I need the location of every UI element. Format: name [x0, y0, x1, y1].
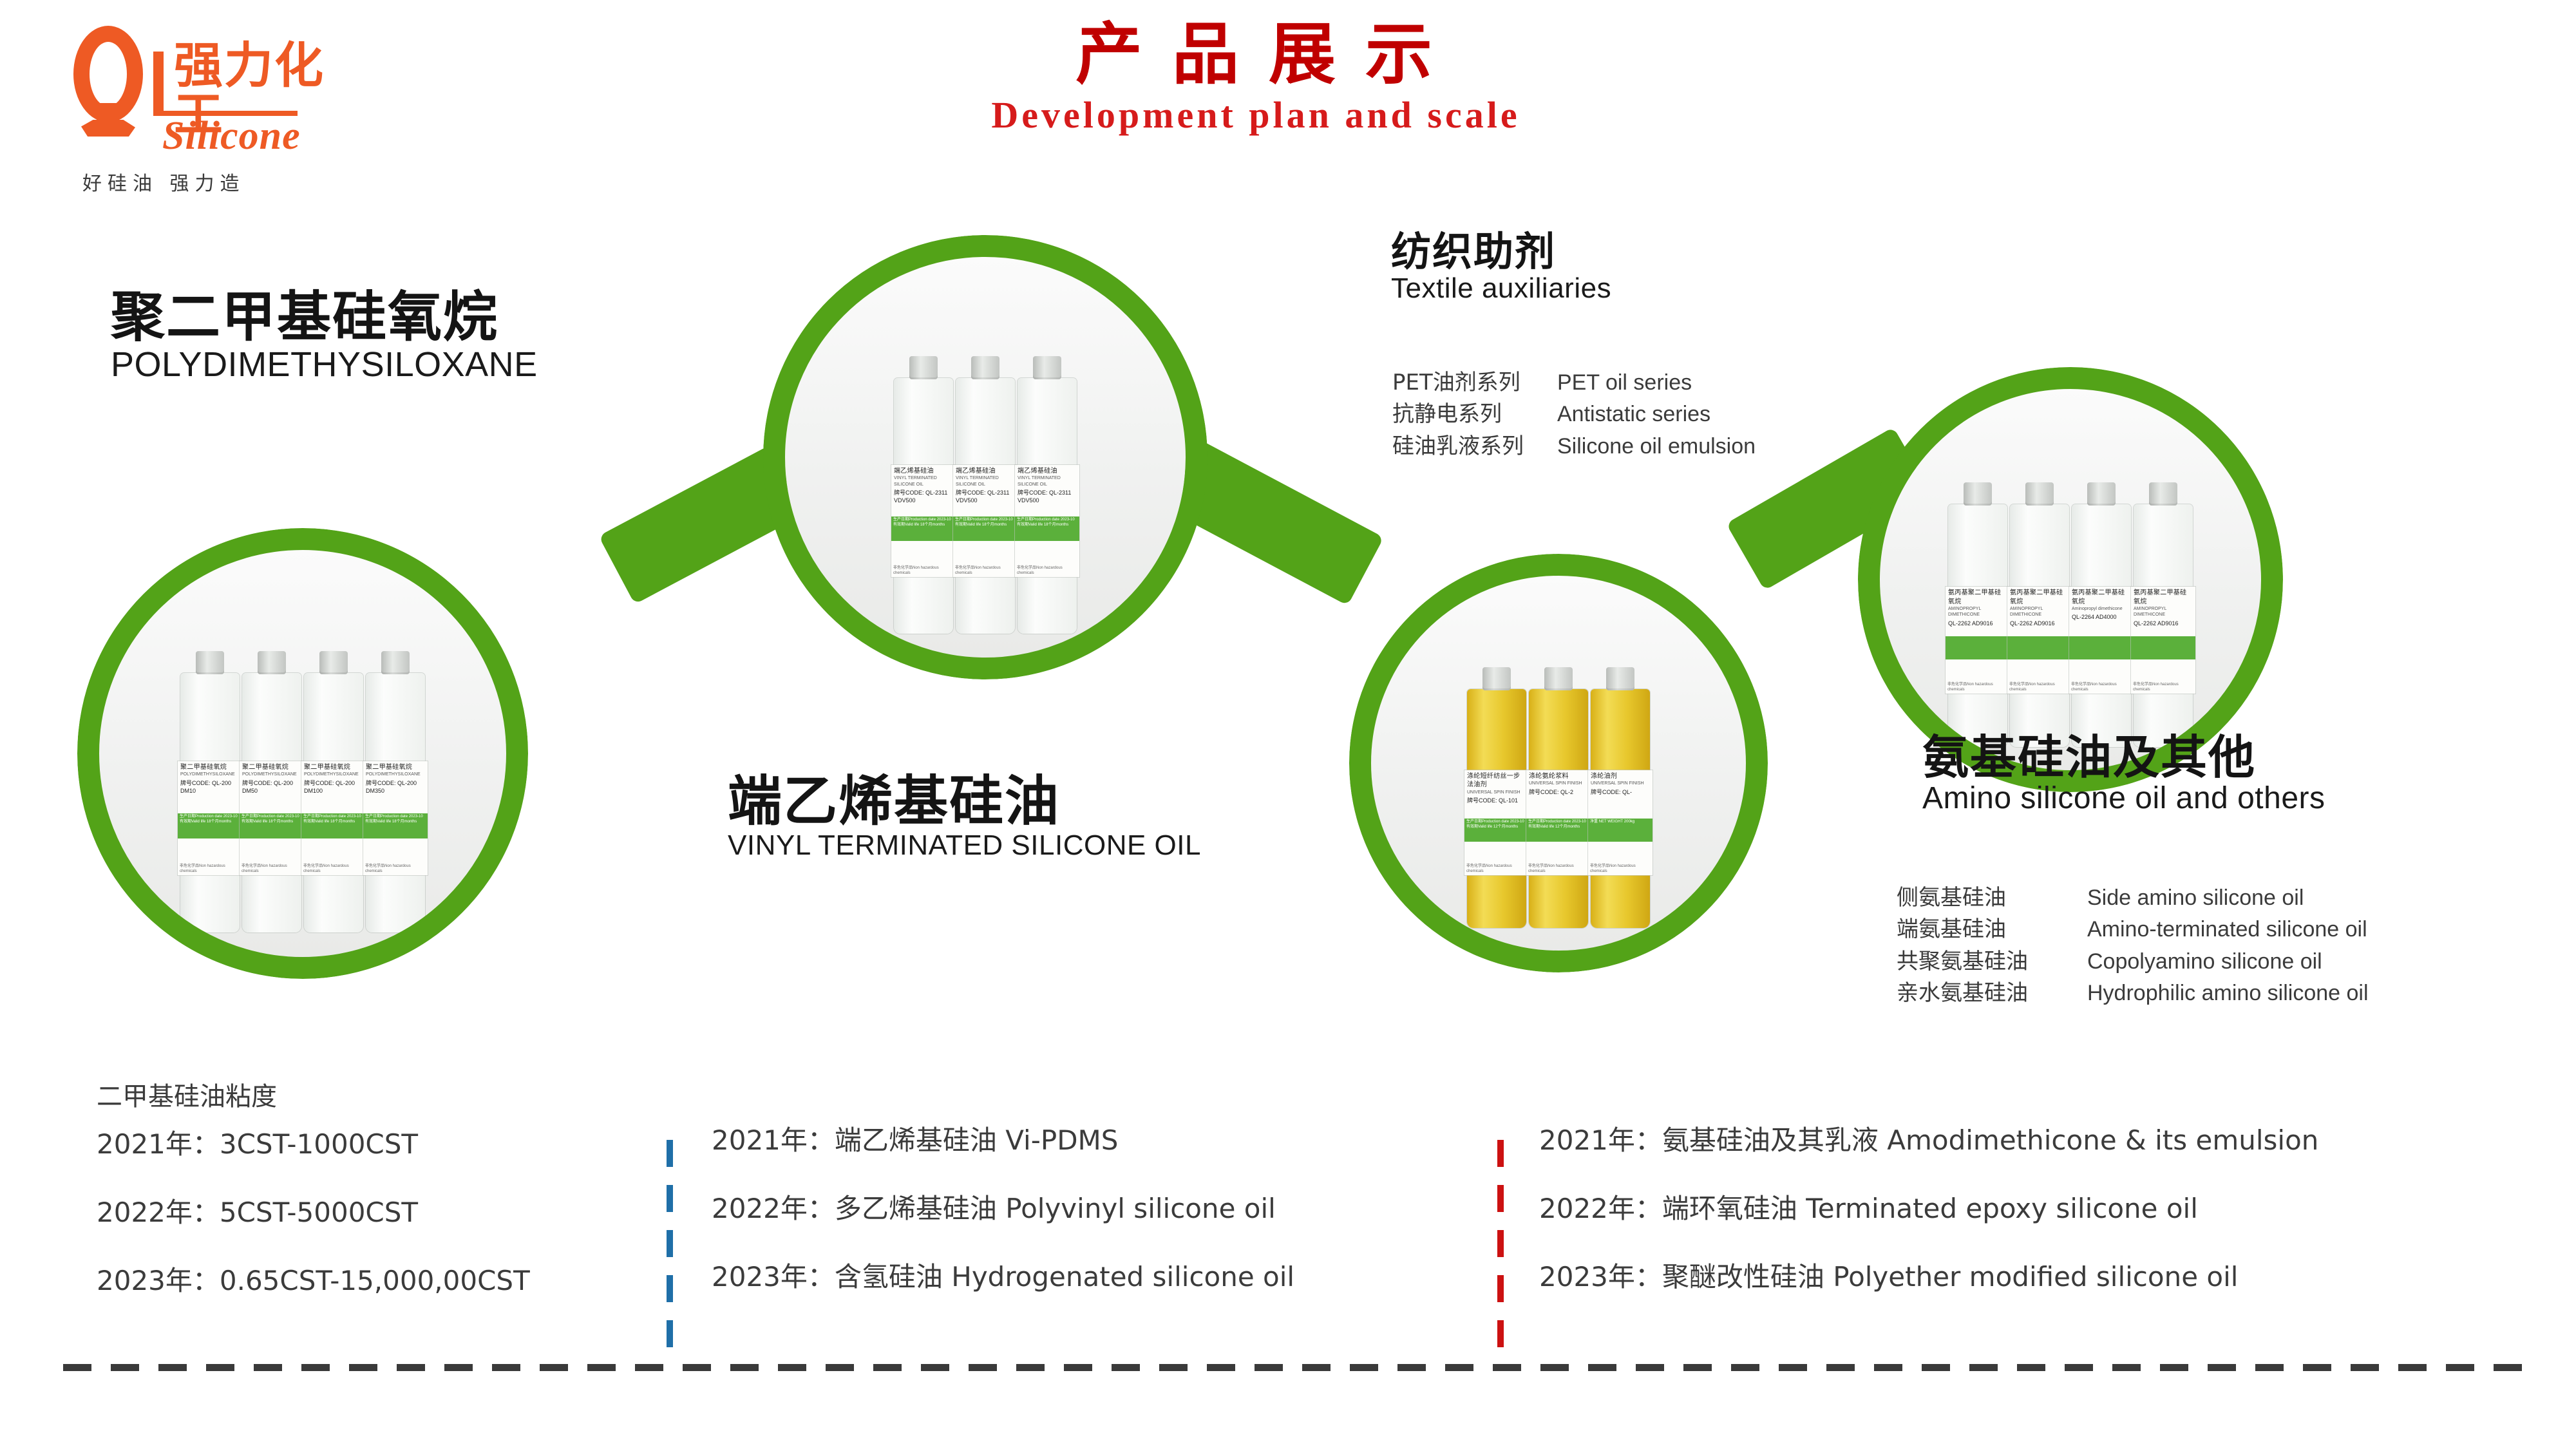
- label-textile-en: Textile auxiliaries: [1391, 273, 1611, 304]
- circle-ring-icon: [77, 528, 528, 979]
- product-circle-vinyl[interactable]: 端乙烯基硅油 VINYL TERMINATED SILICONE OIL 牌号C…: [763, 235, 1207, 679]
- amino-item-1-en: Amino-terminated silicone oil: [2087, 914, 2367, 945]
- textile-item-2-cn: 硅油乳液系列: [1392, 431, 1540, 462]
- timeline-column-vinyl: 2021年：端乙烯基硅油 Vi-PDMS 2022年：多乙烯基硅油 Polyvi…: [712, 1127, 1294, 1332]
- timeline-item: 2023年：0.65CST-15,000,00CST: [97, 1267, 530, 1294]
- circle-ring-icon: [763, 235, 1207, 679]
- timeline-item: 2022年：端环氧硅油 Terminated epoxy silicone oi…: [1539, 1195, 2318, 1222]
- page-title: 产品展示 Development plan and scale: [837, 19, 1674, 137]
- divider-red: [1497, 1140, 1504, 1365]
- amino-item-0-cn: 侧氨基硅油: [1897, 882, 2070, 914]
- product-circle-amino[interactable]: 氨丙基聚二甲基硅氧烷 AMINOPROPYL DIMETHICONE QL-22…: [1858, 367, 2283, 792]
- timeline-section: 二甲基硅油粘度 2021年：3CST-1000CST 2022年：5CST-50…: [0, 1069, 2576, 1391]
- amino-item-2-en: Copolyamino silicone oil: [2087, 946, 2322, 978]
- textile-item-1-cn: 抗静电系列: [1392, 399, 1540, 430]
- label-textile: 纺织助剂 Textile auxiliaries: [1391, 231, 1611, 304]
- timeline-item: 2021年：3CST-1000CST: [97, 1131, 530, 1158]
- timeline-item: 2022年：多乙烯基硅油 Polyvinyl silicone oil: [712, 1195, 1294, 1222]
- logo-bar-icon: [153, 52, 164, 113]
- label-pdms: 聚二甲基硅氧烷 POLYDIMETHYSILOXANE: [111, 289, 538, 384]
- logo-mark-row: 强力化工 Silicone: [59, 18, 368, 153]
- page-title-cn: 产品展示: [863, 19, 1674, 90]
- amino-item-0-en: Side amino silicone oil: [2087, 882, 2304, 914]
- amino-item-list: 侧氨基硅油 Side amino silicone oil 端氨基硅油 Amin…: [1897, 882, 2369, 1009]
- slide-canvas: 强力化工 Silicone 好硅油 强力造 产品展示 Development p…: [0, 0, 2576, 1449]
- list-item: 抗静电系列 Antistatic series: [1392, 399, 1756, 430]
- label-amino-en: Amino silicone oil and others: [1922, 782, 2325, 816]
- label-vinyl-en: VINYL TERMINATED SILICONE OIL: [728, 830, 1201, 861]
- textile-item-0-en: PET oil series: [1557, 367, 1692, 399]
- textile-item-2-en: Silicone oil emulsion: [1557, 431, 1756, 462]
- list-item: 硅油乳液系列 Silicone oil emulsion: [1392, 431, 1756, 462]
- bottom-dashed-rule: [63, 1364, 2536, 1371]
- list-item: 端氨基硅油 Amino-terminated silicone oil: [1897, 914, 2369, 945]
- label-textile-cn: 纺织助剂: [1391, 231, 1611, 273]
- timeline-item: 2021年：氨基硅油及其乳液 Amodimethicone & its emul…: [1539, 1127, 2318, 1154]
- viscosity-heading: 二甲基硅油粘度: [97, 1075, 530, 1113]
- amino-item-2-cn: 共聚氨基硅油: [1897, 946, 2070, 978]
- list-item: 亲水氨基硅油 Hydrophilic amino silicone oil: [1897, 978, 2369, 1009]
- q-mark-icon: [73, 26, 151, 122]
- timeline-item: 2022年：5CST-5000CST: [97, 1199, 530, 1226]
- timeline-column-viscosity: 二甲基硅油粘度 2021年：3CST-1000CST 2022年：5CST-50…: [97, 1075, 530, 1336]
- label-amino: 氨基硅油及其他 Amino silicone oil and others: [1922, 733, 2325, 816]
- divider-blue: [667, 1140, 673, 1365]
- list-item: 侧氨基硅油 Side amino silicone oil: [1897, 882, 2369, 914]
- label-amino-cn: 氨基硅油及其他: [1922, 733, 2325, 782]
- circle-ring-icon: [1349, 554, 1768, 972]
- amino-item-1-cn: 端氨基硅油: [1897, 914, 2070, 945]
- amino-item-3-cn: 亲水氨基硅油: [1897, 978, 2070, 1009]
- circle-ring-icon: [1858, 367, 2283, 792]
- amino-item-3-en: Hydrophilic amino silicone oil: [2087, 978, 2369, 1009]
- timeline-item: 2021年：端乙烯基硅油 Vi-PDMS: [712, 1127, 1294, 1154]
- timeline-item: 2023年：聚醚改性硅油 Polyether modified silicone…: [1539, 1264, 2318, 1291]
- logo-name-en: Silicone: [162, 113, 301, 159]
- label-pdms-en: POLYDIMETHYSILOXANE: [111, 346, 538, 384]
- label-vinyl-cn: 端乙烯基硅油: [728, 773, 1201, 830]
- textile-item-0-cn: PET油剂系列: [1392, 367, 1540, 399]
- label-pdms-cn: 聚二甲基硅氧烷: [111, 289, 538, 346]
- logo-tagline: 好硅油 强力造: [82, 167, 245, 196]
- timeline-item: 2023年：含氢硅油 Hydrogenated silicone oil: [712, 1264, 1294, 1291]
- label-vinyl: 端乙烯基硅油 VINYL TERMINATED SILICONE OIL: [728, 773, 1201, 861]
- product-circle-pdms[interactable]: 聚二甲基硅氧烷 POLYDIMETHYSILOXANE 牌号CODE: QL-2…: [77, 528, 528, 979]
- textile-item-1-en: Antistatic series: [1557, 399, 1710, 430]
- textile-item-list: PET油剂系列 PET oil series 抗静电系列 Antistatic …: [1392, 367, 1756, 462]
- page-title-en: Development plan and scale: [837, 93, 1674, 137]
- timeline-column-amino: 2021年：氨基硅油及其乳液 Amodimethicone & its emul…: [1539, 1127, 2318, 1332]
- product-circle-textile[interactable]: 涤纶短纤纺丝一步法油剂 UNIVERSAL SPIN FINISH 牌号CODE…: [1349, 554, 1768, 972]
- list-item: PET油剂系列 PET oil series: [1392, 367, 1756, 399]
- list-item: 共聚氨基硅油 Copolyamino silicone oil: [1897, 946, 2369, 978]
- company-logo: 强力化工 Silicone 好硅油 强力造: [59, 18, 368, 205]
